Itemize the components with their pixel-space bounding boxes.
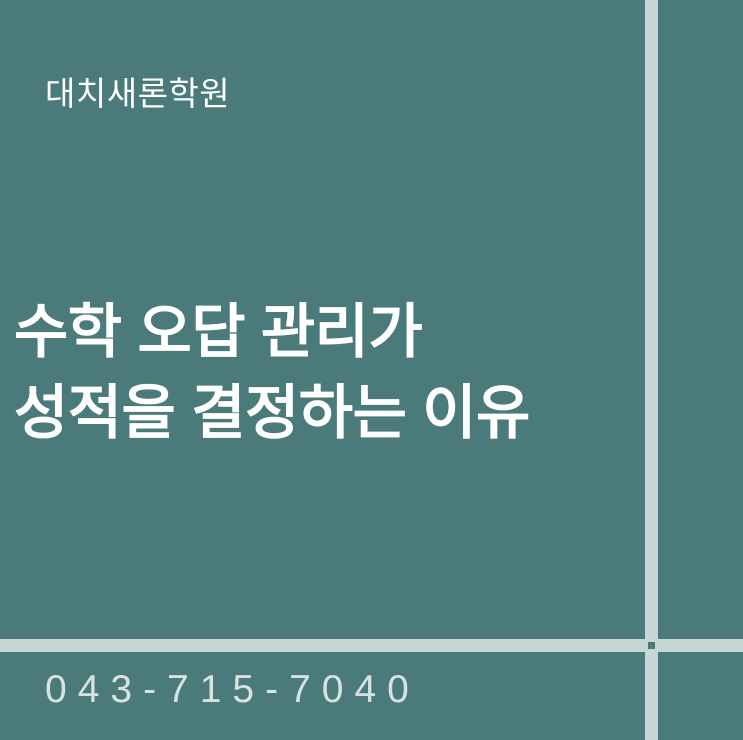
headline-line-2: 성적을 결정하는 이유 <box>14 373 530 454</box>
poster-canvas: 대치새론학원 수학 오답 관리가 성적을 결정하는 이유 043-715-704… <box>0 0 743 740</box>
horizontal-divider-line <box>0 639 743 652</box>
headline-line-1: 수학 오답 관리가 <box>14 292 530 373</box>
divider-intersection-square <box>648 642 655 649</box>
headline: 수학 오답 관리가 성적을 결정하는 이유 <box>14 292 530 454</box>
vertical-divider-line <box>645 0 658 740</box>
phone-number[interactable]: 043-715-7040 <box>45 668 420 712</box>
academy-name: 대치새론학원 <box>45 74 230 114</box>
